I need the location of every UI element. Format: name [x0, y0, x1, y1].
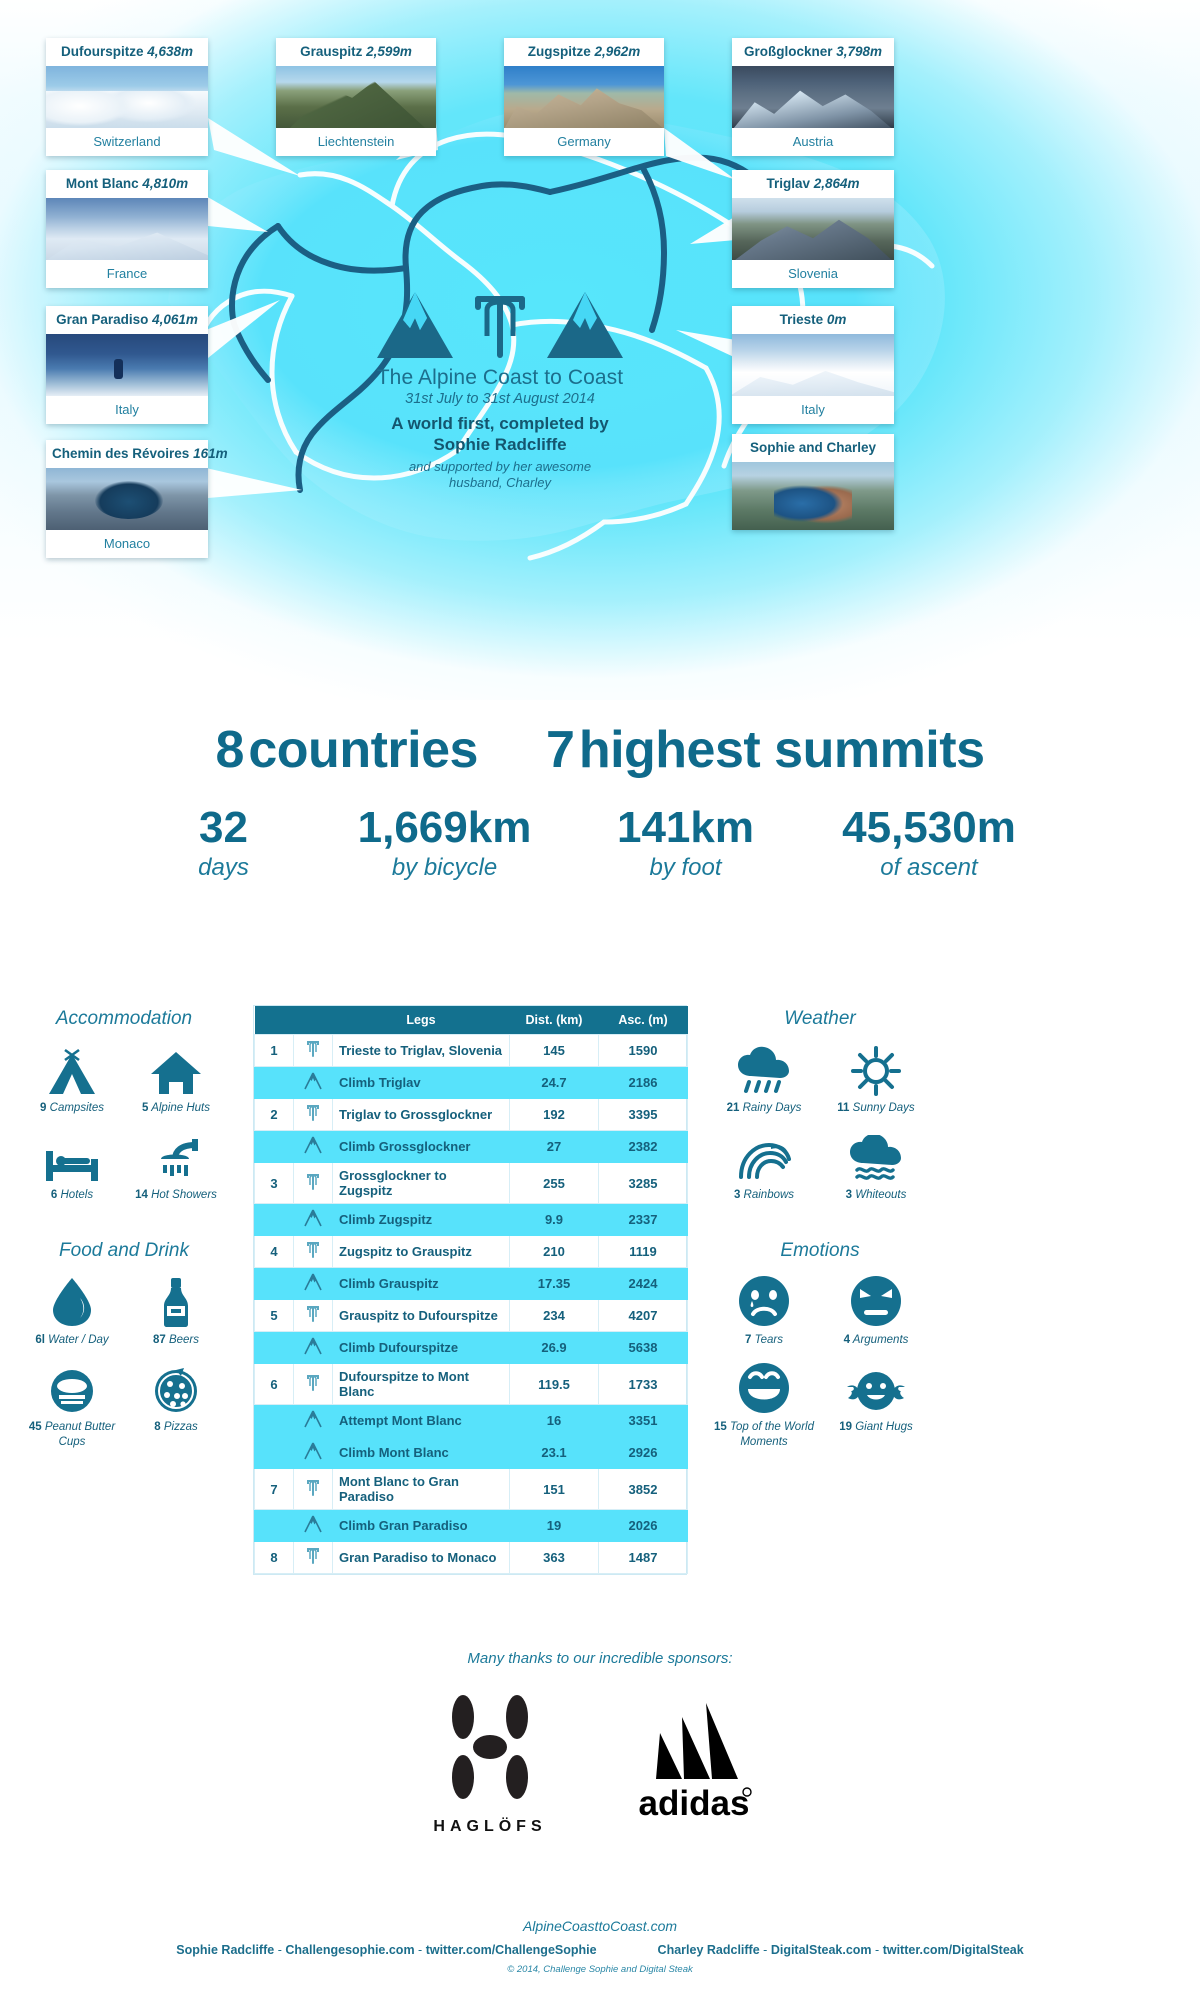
footer-charley-site[interactable]: DigitalSteak.com — [771, 1943, 872, 1957]
legs-table: Legs Dist. (km) Asc. (m) 1Trieste to Tri… — [254, 1006, 688, 1574]
leg-index — [255, 1437, 294, 1469]
table-row: Climb Grauspitz17.352424 — [255, 1268, 688, 1300]
leg-distance: 210 — [510, 1236, 599, 1268]
weather-panel: Weather 21 Rainy Days — [702, 1008, 938, 1219]
card-photo — [46, 66, 208, 128]
stat-countries: 8 countries — [216, 720, 478, 780]
table-row: 2Triglav to Grossglockner1923395 — [255, 1099, 688, 1131]
stat-pizzas: 8 Pizzas — [124, 1363, 228, 1449]
stat-giant-hugs: 19 Giant Hugs — [820, 1363, 932, 1449]
leg-index — [255, 1067, 294, 1099]
summit-card-grossglockner[interactable]: Großglockner 3,798m Austria — [732, 38, 894, 156]
stat-rainy-days: 21 Rainy Days — [708, 1044, 820, 1115]
tent-icon — [45, 1048, 99, 1096]
whiteout-cloud-icon — [847, 1135, 905, 1183]
rain-cloud-icon — [735, 1046, 793, 1096]
leg-name: Grauspitz to Dufourspitze — [333, 1300, 510, 1332]
panel-title: Weather — [702, 1008, 938, 1030]
icon-label: 6 Hotels — [20, 1188, 124, 1202]
icon-label: 8 Pizzas — [124, 1420, 228, 1434]
footer-charley-twitter[interactable]: twitter.com/DigitalSteak — [883, 1943, 1024, 1957]
col-dist: Dist. (km) — [510, 1006, 599, 1035]
table-row: 8Gran Paradiso to Monaco3631487 — [255, 1542, 688, 1574]
leg-name: Climb Mont Blanc — [333, 1437, 510, 1469]
bicycle-icon — [294, 1236, 333, 1268]
leg-index: 7 — [255, 1469, 294, 1510]
icon-label: 9 Campsites — [20, 1101, 124, 1115]
happy-face-icon — [737, 1361, 791, 1415]
card-country: Slovenia — [732, 260, 894, 288]
bicycle-icon — [294, 1099, 333, 1131]
leg-ascent: 1733 — [599, 1364, 688, 1405]
hero-support: and supported by her awesomehusband, Cha… — [300, 459, 700, 492]
leg-index — [255, 1332, 294, 1364]
stat-label: of ascent — [822, 854, 1037, 882]
col-legs: Legs — [333, 1006, 510, 1035]
footer-copyright: © 2014, Challenge Sophie and Digital Ste… — [0, 1964, 1200, 1975]
card-photo — [276, 66, 436, 128]
leg-distance: 151 — [510, 1469, 599, 1510]
hero-subtitle: A world first, completed bySophie Radcli… — [300, 413, 700, 456]
stat-water: 6l Water / Day — [20, 1276, 124, 1347]
card-photo — [732, 462, 894, 530]
stat-label: highest summits — [579, 721, 985, 779]
leg-distance: 363 — [510, 1542, 599, 1574]
leg-index — [255, 1405, 294, 1437]
leg-distance: 24.7 — [510, 1067, 599, 1099]
bicycle-icon — [294, 1035, 333, 1067]
stat-label: by bicycle — [340, 854, 550, 882]
col-index — [255, 1006, 294, 1035]
card-country: Liechtenstein — [276, 128, 436, 156]
leg-ascent: 2186 — [599, 1067, 688, 1099]
stat-hotels: 6 Hotels — [20, 1131, 124, 1202]
accommodation-panel: Accommodation 9 Campsites 5 Alpine Huts — [14, 1008, 234, 1219]
icon-label: 14 Hot Showers — [124, 1188, 228, 1202]
stat-value: 32 — [164, 806, 284, 850]
panel-title: Emotions — [702, 1240, 938, 1262]
bicycle-icon — [294, 1163, 333, 1204]
icon-label: 45 Peanut Butter Cups — [20, 1420, 124, 1449]
water-drop-icon — [50, 1276, 94, 1328]
leg-distance: 19 — [510, 1510, 599, 1542]
icon-label: 11 Sunny Days — [820, 1101, 932, 1115]
mountain-icon — [294, 1067, 333, 1099]
stat-summits: 7 highest summits — [546, 720, 985, 780]
panel-title: Food and Drink — [14, 1240, 234, 1262]
footer-sophie-site[interactable]: Challengesophie.com — [285, 1943, 414, 1957]
summit-card-triglav[interactable]: Triglav 2,864m Slovenia — [732, 170, 894, 288]
leg-name: Climb Gran Paradiso — [333, 1510, 510, 1542]
sponsors-title: Many thanks to our incredible sponsors: — [0, 1650, 1200, 1667]
mountain-icon — [543, 286, 627, 364]
haglofs-logo — [430, 1691, 550, 1803]
stat-peanut-butter-cups: 45 Peanut Butter Cups — [20, 1363, 124, 1449]
card-country: Italy — [732, 396, 894, 424]
mountain-icon — [294, 1131, 333, 1163]
table-header-row: Legs Dist. (km) Asc. (m) — [255, 1006, 688, 1035]
leg-distance: 192 — [510, 1099, 599, 1131]
card-title: Triglav 2,864m — [732, 170, 894, 198]
leg-index — [255, 1131, 294, 1163]
sep: - — [418, 1943, 422, 1957]
leg-ascent: 1590 — [599, 1035, 688, 1067]
icon-label: 19 Giant Hugs — [820, 1420, 932, 1434]
leg-distance: 119.5 — [510, 1364, 599, 1405]
leg-ascent: 3285 — [599, 1163, 688, 1204]
stat-whiteouts: 3 Whiteouts — [820, 1131, 932, 1202]
card-title: Sophie and Charley — [732, 434, 894, 462]
leg-ascent: 3395 — [599, 1099, 688, 1131]
bicycle-icon — [294, 1300, 333, 1332]
leg-distance: 234 — [510, 1300, 599, 1332]
leg-index — [255, 1204, 294, 1236]
leg-ascent: 2424 — [599, 1268, 688, 1300]
table-row: 3Grossglockner to Zugspitz2553285 — [255, 1163, 688, 1204]
stat-campsites: 9 Campsites — [20, 1044, 124, 1115]
summit-card-gran-paradiso[interactable]: Gran Paradiso 4,061m Italy — [46, 306, 208, 424]
stat-label: days — [164, 854, 284, 882]
leg-index: 3 — [255, 1163, 294, 1204]
leg-ascent: 2926 — [599, 1437, 688, 1469]
stat-label: by foot — [606, 854, 766, 882]
stat-foot: 141km by foot — [606, 806, 766, 882]
table-row: Climb Mont Blanc23.12926 — [255, 1437, 688, 1469]
house-icon — [149, 1048, 203, 1096]
col-asc: Asc. (m) — [599, 1006, 688, 1035]
leg-name: Attempt Mont Blanc — [333, 1405, 510, 1437]
footer: AlpineCoasttoCoast.com Sophie Radcliffe … — [0, 1918, 1200, 1975]
emotions-panel: Emotions 7 Tears 4 Arguments — [702, 1240, 938, 1465]
card-photo — [504, 66, 664, 128]
rainbow-icon — [735, 1135, 793, 1183]
leg-index: 8 — [255, 1542, 294, 1574]
sep: - — [875, 1943, 879, 1957]
table-row: 4Zugspitz to Grauspitz2101119 — [255, 1236, 688, 1268]
mountain-icon — [294, 1268, 333, 1300]
leg-name: Climb Grossglockner — [333, 1131, 510, 1163]
mountain-icon — [373, 286, 457, 364]
number-stats-row: 32 days 1,669km by bicycle 141km by foot… — [0, 806, 1200, 882]
leg-distance: 145 — [510, 1035, 599, 1067]
stat-value: 141km — [606, 806, 766, 850]
card-title: Grauspitz 2,599m — [276, 38, 436, 66]
leg-name: Grossglockner to Zugspitz — [333, 1163, 510, 1204]
icon-label: 3 Whiteouts — [820, 1188, 932, 1202]
summit-card-zugspitze[interactable]: Zugspitze 2,962m Germany — [504, 38, 664, 156]
sponsor-adidas[interactable]: adidas — [620, 1695, 770, 1832]
sep: - — [278, 1943, 282, 1957]
shower-icon — [149, 1135, 203, 1183]
leg-ascent: 1119 — [599, 1236, 688, 1268]
peanut-butter-cup-icon — [48, 1367, 96, 1415]
summit-card-trieste[interactable]: Trieste 0m Italy — [732, 306, 894, 424]
sad-face-icon — [737, 1274, 791, 1328]
table-row: 7Mont Blanc to Gran Paradiso1513852 — [255, 1469, 688, 1510]
leg-name: Climb Dufourspitze — [333, 1332, 510, 1364]
footer-site-link[interactable]: AlpineCoasttoCoast.com — [0, 1918, 1200, 1934]
bicycle-icon — [294, 1469, 333, 1510]
card-title: Dufourspitze 4,638m — [46, 38, 208, 66]
card-country: Italy — [46, 396, 208, 424]
svg-text:adidas: adidas — [639, 1784, 750, 1823]
bicycle-icon — [294, 1542, 333, 1574]
footer-charley-name: Charley Radcliffe — [658, 1943, 760, 1957]
table-row: Climb Gran Paradiso192026 — [255, 1510, 688, 1542]
stat-value: 45,530m — [822, 806, 1037, 850]
leg-index: 2 — [255, 1099, 294, 1131]
panel-title: Accommodation — [14, 1008, 234, 1030]
col-icon — [294, 1006, 333, 1035]
food-and-drink-panel: Food and Drink 6l Water / Day 87 Beers — [14, 1240, 234, 1465]
hero-dates: 31st July to 31st August 2014 — [300, 391, 700, 407]
card-title: Trieste 0m — [732, 306, 894, 334]
sponsor-haglofs[interactable]: HAGLÖFS — [430, 1691, 550, 1836]
leg-distance: 16 — [510, 1405, 599, 1437]
leg-index — [255, 1510, 294, 1542]
stat-top-of-world-moments: 15 Top of the World Moments — [708, 1363, 820, 1449]
stat-alpine-huts: 5 Alpine Huts — [124, 1044, 228, 1115]
leg-distance: 9.9 — [510, 1204, 599, 1236]
table-row: Attempt Mont Blanc163351 — [255, 1405, 688, 1437]
beer-bottle-icon — [159, 1276, 193, 1328]
card-photo — [46, 468, 208, 530]
card-photo — [732, 66, 894, 128]
angry-face-icon — [849, 1274, 903, 1328]
leg-ascent: 4207 — [599, 1300, 688, 1332]
stat-label: countries — [248, 721, 478, 779]
footer-credits: Sophie Radcliffe - Challengesophie.com -… — [0, 1943, 1200, 1957]
leg-name: Gran Paradiso to Monaco — [333, 1542, 510, 1574]
icon-label: 21 Rainy Days — [708, 1101, 820, 1115]
leg-name: Zugspitz to Grauspitz — [333, 1236, 510, 1268]
summit-card-dufourspitze[interactable]: Dufourspitze 4,638m Switzerland — [46, 38, 208, 156]
card-photo — [46, 334, 208, 396]
card-title: Zugspitze 2,962m — [504, 38, 664, 66]
leg-distance: 17.35 — [510, 1268, 599, 1300]
headline-stats: 8 countries 7 highest summits 32 days 1,… — [0, 720, 1200, 882]
leg-distance: 23.1 — [510, 1437, 599, 1469]
leg-ascent: 5638 — [599, 1332, 688, 1364]
leg-name: Triglav to Grossglockner — [333, 1099, 510, 1131]
card-title: Gran Paradiso 4,061m — [46, 306, 208, 334]
leg-name: Climb Grauspitz — [333, 1268, 510, 1300]
leg-name: Climb Triglav — [333, 1067, 510, 1099]
mountain-icon — [294, 1204, 333, 1236]
table-row: Climb Triglav24.72186 — [255, 1067, 688, 1099]
icon-label: 15 Top of the World Moments — [708, 1420, 820, 1449]
leg-name: Mont Blanc to Gran Paradiso — [333, 1469, 510, 1510]
leg-name: Dufourspitze to Mont Blanc — [333, 1364, 510, 1405]
icon-label: 5 Alpine Huts — [124, 1101, 228, 1115]
mountain-icon — [294, 1405, 333, 1437]
card-country: Germany — [504, 128, 664, 156]
leg-index — [255, 1268, 294, 1300]
stat-bicycle: 1,669km by bicycle — [340, 806, 550, 882]
card-photo — [732, 334, 894, 396]
stat-ascent: 45,530m of ascent — [822, 806, 1037, 882]
leg-ascent: 2337 — [599, 1204, 688, 1236]
hero-logo — [300, 276, 700, 364]
leg-ascent: 2026 — [599, 1510, 688, 1542]
card-country: Austria — [732, 128, 894, 156]
table-row: 5Grauspitz to Dufourspitze2344207 — [255, 1300, 688, 1332]
bicycle-icon — [294, 1364, 333, 1405]
icon-label: 87 Beers — [124, 1333, 228, 1347]
table-row: Climb Grossglockner272382 — [255, 1131, 688, 1163]
stat-arguments: 4 Arguments — [820, 1276, 932, 1347]
footer-sophie-twitter[interactable]: twitter.com/ChallengeSophie — [426, 1943, 597, 1957]
sponsor-name: HAGLÖFS — [430, 1818, 550, 1836]
stat-hot-showers: 14 Hot Showers — [124, 1131, 228, 1202]
card-country: Switzerland — [46, 128, 208, 156]
leg-distance: 255 — [510, 1163, 599, 1204]
mountain-icon — [294, 1332, 333, 1364]
icon-label: 3 Rainbows — [708, 1188, 820, 1202]
leg-index: 6 — [255, 1364, 294, 1405]
table-row: Climb Dufourspitze26.95638 — [255, 1332, 688, 1364]
sponsors-section: Many thanks to our incredible sponsors: … — [0, 1650, 1200, 1836]
summit-card-mont-blanc[interactable]: Mont Blanc 4,810m France — [46, 170, 208, 288]
hug-face-icon — [845, 1367, 907, 1415]
card-title: Chemin des Révoires 161m — [46, 440, 208, 468]
icon-label: 7 Tears — [708, 1333, 820, 1347]
card-photo — [732, 198, 894, 260]
stat-sunny-days: 11 Sunny Days — [820, 1044, 932, 1115]
bicycle-icon — [461, 288, 539, 364]
bed-icon — [44, 1143, 100, 1183]
leg-index: 1 — [255, 1035, 294, 1067]
leg-ascent: 3351 — [599, 1405, 688, 1437]
table-row: 6Dufourspitze to Mont Blanc119.51733 — [255, 1364, 688, 1405]
stat-rainbows: 3 Rainbows — [708, 1131, 820, 1202]
table-row: 1Trieste to Triglav, Slovenia1451590 — [255, 1035, 688, 1067]
sep: - — [763, 1943, 767, 1957]
card-photo — [46, 198, 208, 260]
icon-label: 6l Water / Day — [20, 1333, 124, 1347]
leg-name: Climb Zugspitz — [333, 1204, 510, 1236]
stat-value: 8 — [216, 721, 244, 779]
leg-ascent: 2382 — [599, 1131, 688, 1163]
legs-table-wrapper: Legs Dist. (km) Asc. (m) 1Trieste to Tri… — [253, 1005, 687, 1575]
leg-distance: 27 — [510, 1131, 599, 1163]
stat-tears: 7 Tears — [708, 1276, 820, 1347]
stat-value: 1,669km — [340, 806, 550, 850]
map-banner: Dufourspitze 4,638m Switzerland Grauspit… — [0, 0, 1200, 700]
leg-index: 5 — [255, 1300, 294, 1332]
card-country: France — [46, 260, 208, 288]
leg-index: 4 — [255, 1236, 294, 1268]
icon-label: 4 Arguments — [820, 1333, 932, 1347]
summit-card-grauspitz[interactable]: Grauspitz 2,599m Liechtenstein — [276, 38, 436, 156]
adidas-logo: adidas — [620, 1695, 770, 1827]
leg-ascent: 1487 — [599, 1542, 688, 1574]
pizza-icon — [151, 1365, 201, 1415]
stat-value: 7 — [546, 721, 574, 779]
stat-beers: 87 Beers — [124, 1276, 228, 1347]
sun-icon — [849, 1046, 903, 1096]
card-title: Mont Blanc 4,810m — [46, 170, 208, 198]
hero-title-block: The Alpine Coast to Coast 31st July to 3… — [300, 276, 700, 491]
mountain-icon — [294, 1510, 333, 1542]
leg-ascent: 3852 — [599, 1469, 688, 1510]
photo-card-sophie-and-charley[interactable]: Sophie and Charley — [732, 434, 894, 530]
hero-stats-row: 8 countries 7 highest summits — [0, 720, 1200, 780]
card-title: Großglockner 3,798m — [732, 38, 894, 66]
card-country: Monaco — [46, 530, 208, 558]
hero-title: The Alpine Coast to Coast — [300, 366, 700, 390]
leg-distance: 26.9 — [510, 1332, 599, 1364]
stat-days: 32 days — [164, 806, 284, 882]
mountain-icon — [294, 1437, 333, 1469]
footer-sophie-name: Sophie Radcliffe — [176, 1943, 274, 1957]
leg-name: Trieste to Triglav, Slovenia — [333, 1035, 510, 1067]
summit-card-chemin-des-revoires[interactable]: Chemin des Révoires 161m Monaco — [46, 440, 208, 558]
table-row: Climb Zugspitz9.92337 — [255, 1204, 688, 1236]
